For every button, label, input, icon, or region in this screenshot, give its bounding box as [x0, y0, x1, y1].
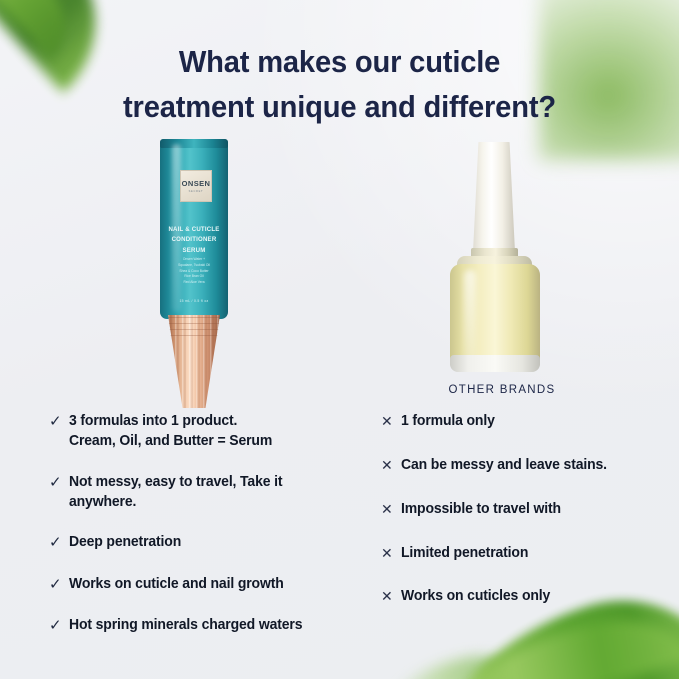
list-item-line-1: Works on cuticles only	[401, 588, 550, 604]
tube-ingredients-line-2: Squalane, Tsubaki Oil	[178, 263, 210, 267]
list-item-text: Impossible to travel with	[401, 500, 561, 520]
list-item-line-1: Can be messy and leave stains.	[401, 457, 607, 473]
cross-icon: ✕	[381, 544, 401, 563]
list-item-line-2: anywhere.	[69, 493, 282, 513]
cross-icon: ✕	[381, 456, 401, 475]
cross-icon: ✕	[381, 500, 401, 519]
bottle-cap	[473, 142, 515, 252]
onsen-tube-image: ONSEN SECRET NAIL & CUTICLE CONDITIONER …	[139, 139, 251, 411]
list-item-text: Limited penetration	[401, 544, 528, 564]
list-item-text: 1 formula only	[401, 412, 495, 432]
list-item-line-1: Deep penetration	[69, 534, 181, 550]
list-item: ✕ 1 formula only	[381, 412, 661, 432]
list-item: ✕ Impossible to travel with	[381, 500, 661, 520]
check-icon: ✓	[49, 616, 69, 636]
list-item-text: Not messy, easy to travel, Take it anywh…	[69, 473, 282, 513]
ours-feature-list: ✓ 3 formulas into 1 product. Cream, Oil,…	[49, 412, 349, 657]
tube-product-name-line-2: CONDITIONER	[172, 236, 217, 243]
list-item: ✓ 3 formulas into 1 product. Cream, Oil,…	[49, 412, 349, 452]
onsen-logo-text: ONSEN	[182, 179, 211, 188]
tube-product-name-line-1: NAIL & CUTICLE	[168, 226, 219, 233]
list-item-text: Works on cuticles only	[401, 587, 550, 607]
list-item-line-1: Not messy, easy to travel, Take it	[69, 474, 282, 490]
list-item-line-2: Cream, Oil, and Butter = Serum	[69, 432, 272, 452]
cross-icon: ✕	[381, 412, 401, 431]
tube-crimp	[160, 139, 228, 148]
list-item-text: Deep penetration	[69, 533, 181, 553]
list-item: ✕ Works on cuticles only	[381, 587, 661, 607]
onsen-logo: ONSEN SECRET	[180, 170, 212, 202]
tube-product-name-line-3: SERUM	[182, 247, 205, 254]
competitor-bottle-image: OTHER BRANDS	[440, 142, 564, 392]
list-item: ✕ Can be messy and leave stains.	[381, 456, 661, 476]
product-comparison-images: ONSEN SECRET NAIL & CUTICLE CONDITIONER …	[0, 136, 679, 411]
list-item: ✓ Hot spring minerals charged waters	[49, 616, 349, 636]
list-item: ✕ Limited penetration	[381, 544, 661, 564]
tube-ingredients: Onsen Water + Squalane, Tsubaki Oil Shea…	[166, 257, 222, 286]
list-item-line-1: Impossible to travel with	[401, 501, 561, 517]
page-title-line-2: treatment unique and different?	[20, 84, 658, 129]
list-item: ✓ Deep penetration	[49, 533, 349, 553]
list-item-text: Can be messy and leave stains.	[401, 456, 607, 476]
list-item: ✓ Works on cuticle and nail growth	[49, 575, 349, 595]
list-item: ✓ Not messy, easy to travel, Take it any…	[49, 473, 349, 513]
list-item-line-1: 1 formula only	[401, 413, 495, 429]
tube-ingredients-line-5: Red Aloe Vera	[183, 280, 204, 284]
comparison-lists: ✓ 3 formulas into 1 product. Cream, Oil,…	[0, 412, 679, 679]
list-item-line-1: 3 formulas into 1 product.	[69, 413, 237, 429]
onsen-logo-subtext: SECRET	[189, 190, 204, 193]
check-icon: ✓	[49, 473, 69, 493]
check-icon: ✓	[49, 575, 69, 595]
check-icon: ✓	[49, 533, 69, 553]
list-item-text: 3 formulas into 1 product. Cream, Oil, a…	[69, 412, 272, 452]
theirs-feature-list: ✕ 1 formula only ✕ Can be messy and leav…	[381, 412, 661, 631]
list-item-text: Works on cuticle and nail growth	[69, 575, 284, 595]
list-item-text: Hot spring minerals charged waters	[69, 616, 302, 636]
list-item-line-1: Hot spring minerals charged waters	[69, 617, 302, 633]
bottle-base	[450, 355, 540, 372]
competitor-label: OTHER BRANDS	[440, 384, 564, 396]
page-title-line-1: What makes our cuticle	[179, 44, 500, 79]
tube-product-name: NAIL & CUTICLE CONDITIONER SERUM	[164, 225, 224, 256]
list-item-line-1: Limited penetration	[401, 545, 528, 561]
list-item-line-1: Works on cuticle and nail growth	[69, 576, 284, 592]
tube-tip-rings	[168, 317, 220, 339]
page-title: What makes our cuticle treatment unique …	[20, 39, 658, 130]
infographic-page: What makes our cuticle treatment unique …	[0, 0, 679, 679]
bottle-highlight	[464, 270, 476, 362]
tube-ingredients-line-3: Shea & Coco Butter	[179, 269, 208, 273]
tube-ingredients-line-4: Rice Bran Oil	[184, 274, 203, 278]
check-icon: ✓	[49, 412, 69, 432]
tube-ingredients-line-1: Onsen Water +	[183, 257, 205, 261]
tube-volume: 15 mL / 0.5 fl oz	[166, 299, 222, 303]
cross-icon: ✕	[381, 587, 401, 606]
